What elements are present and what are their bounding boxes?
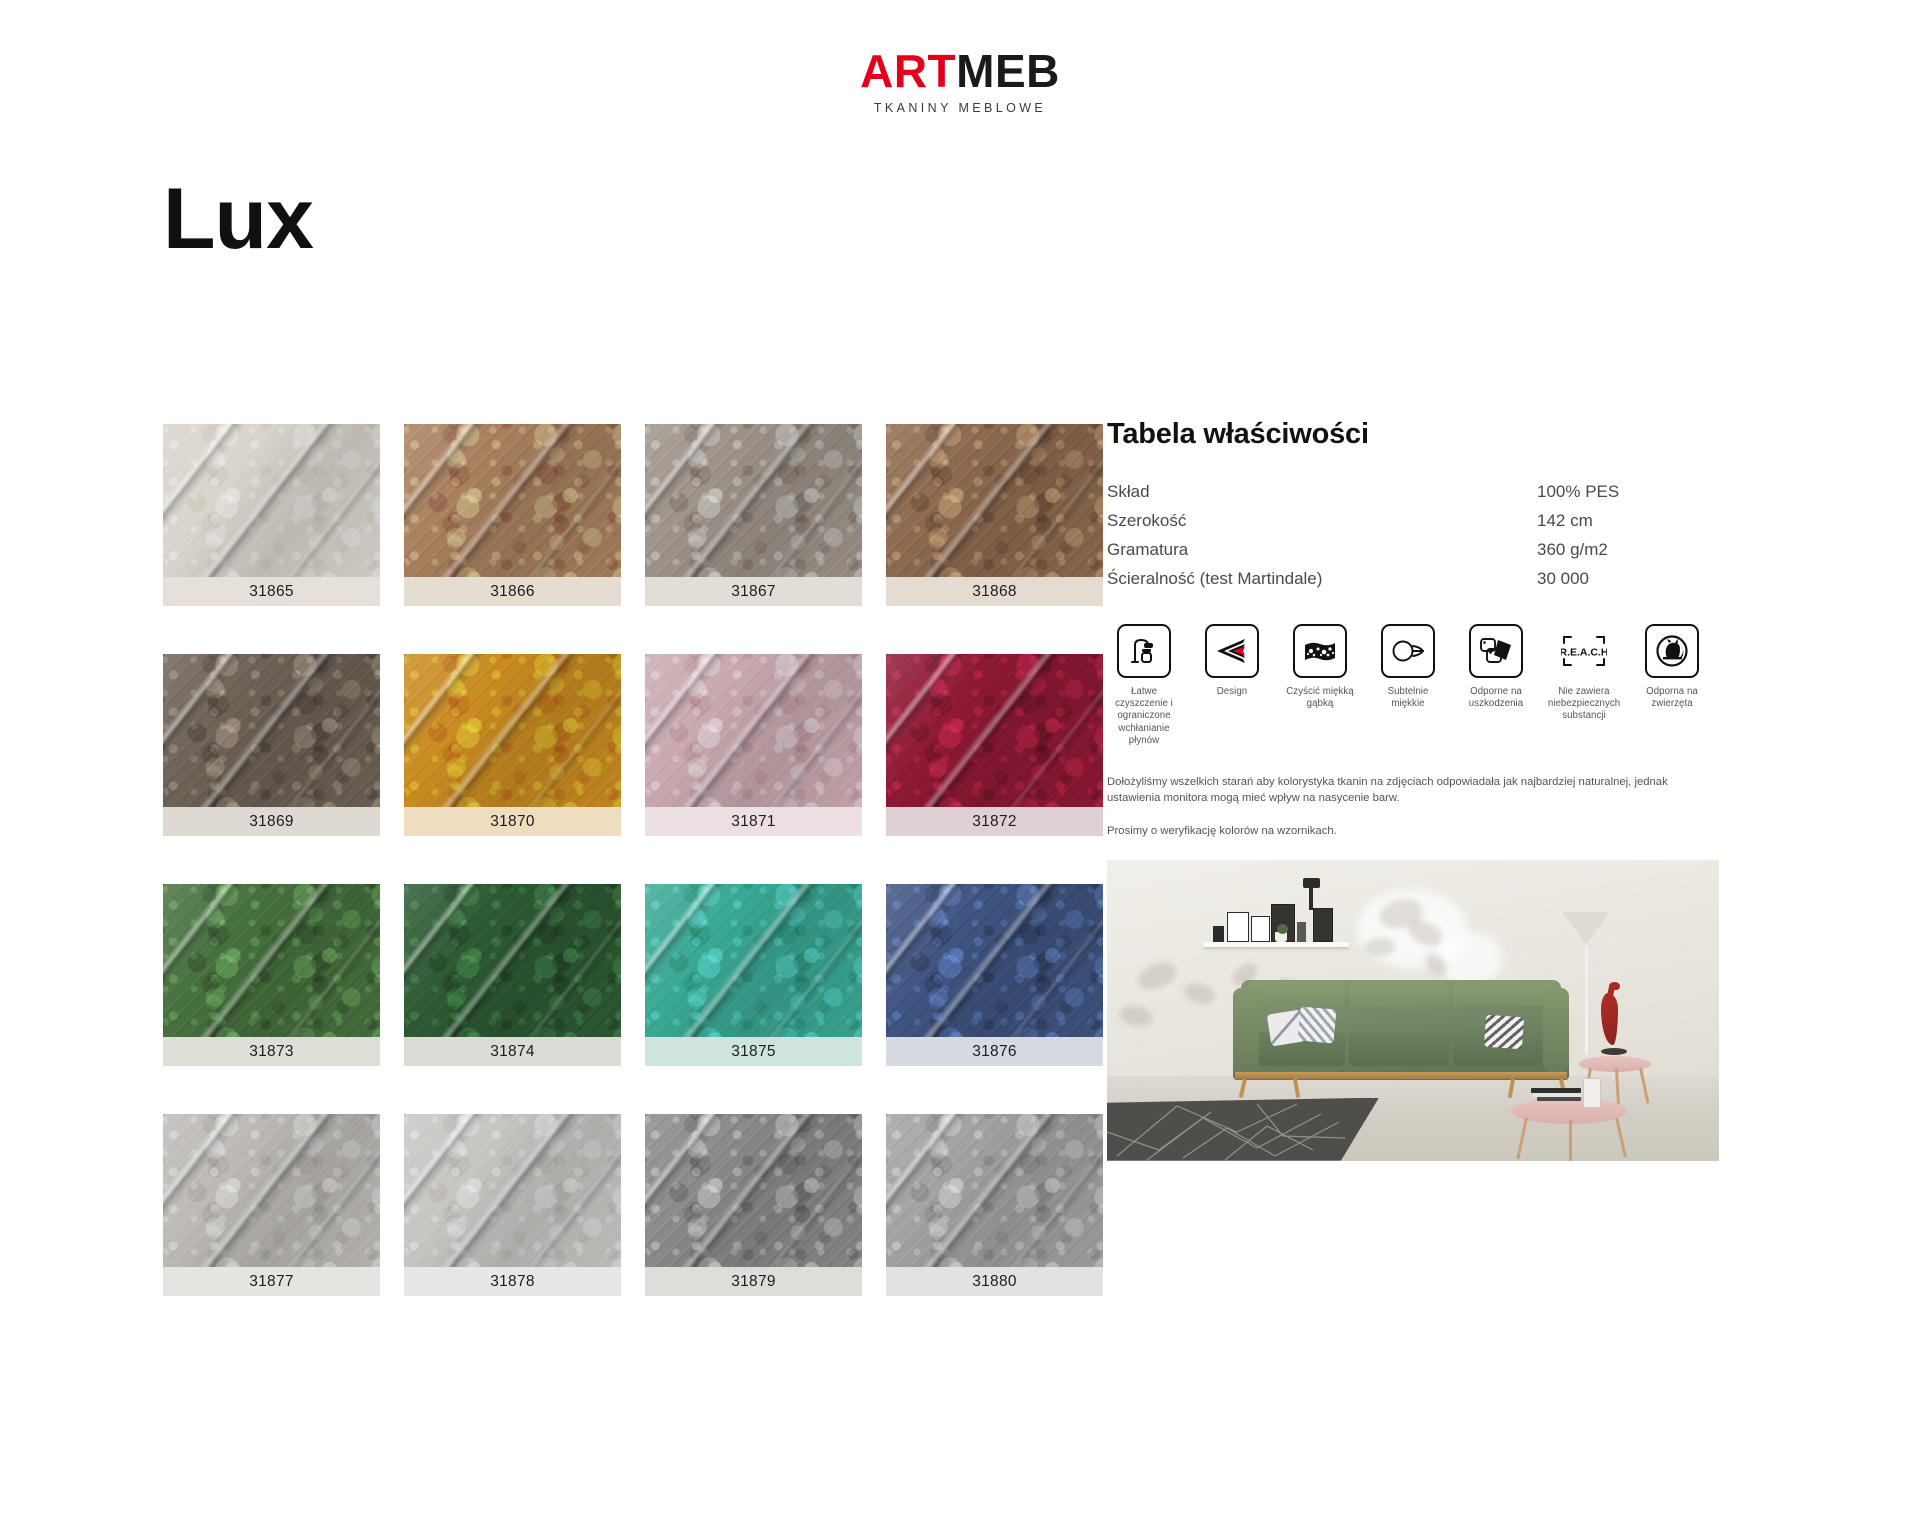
fabric-swatch-image [404, 654, 621, 807]
feature-icon-cell: Czyścić miękką gąbką [1283, 624, 1357, 748]
property-value: 360 g/m2 [1537, 535, 1727, 564]
sofa-armrest [1543, 988, 1569, 1072]
fabric-swatch-code: 31876 [886, 1037, 1103, 1066]
fabric-swatch-image [163, 654, 380, 807]
fabric-swatch[interactable]: 31878 [404, 1114, 621, 1296]
feature-icon-cell: Subtelnie miękkie [1371, 624, 1445, 748]
fabric-swatch-code: 31879 [645, 1267, 862, 1296]
collection-title: Lux [163, 176, 313, 262]
fabric-swatch[interactable]: 31866 [404, 424, 621, 606]
properties-panel: Tabela właściwości Skład100% PESSzerokoś… [1107, 418, 1727, 1161]
book-stack [1531, 1088, 1581, 1093]
fabric-swatch-code: 31865 [163, 577, 380, 606]
pet-friendly-cat-icon [1645, 624, 1699, 678]
fabric-swatch-code: 31868 [886, 577, 1103, 606]
disclaimer-paragraph-1: Dołożyliśmy wszelkich starań aby kolorys… [1107, 774, 1719, 807]
properties-table: Skład100% PESSzerokość142 cmGramatura360… [1107, 477, 1727, 594]
properties-title: Tabela właściwości [1107, 418, 1727, 451]
sunlight-patch [1437, 932, 1503, 986]
floor-lamp-pole [1585, 946, 1588, 1056]
catalog-page: ARTMEB TKANINY MEBLOWE Lux 3186531866318… [0, 0, 1920, 1538]
damage-resistant-icon [1469, 624, 1523, 678]
fabric-swatch[interactable]: 31870 [404, 654, 621, 836]
soft-touch-icon [1381, 624, 1435, 678]
fabric-swatch[interactable]: 31873 [163, 884, 380, 1066]
feature-icon-cell: Odporna na zwierzęta [1635, 624, 1709, 748]
sofa-armrest [1233, 988, 1259, 1072]
fabric-swatch-image [886, 654, 1103, 807]
shelf-picture-frame [1313, 908, 1333, 942]
fabric-swatch-code: 31871 [645, 807, 862, 836]
fabric-swatch-code: 31870 [404, 807, 621, 836]
fabric-swatch-code: 31878 [404, 1267, 621, 1296]
fabric-swatch-code: 31875 [645, 1037, 862, 1066]
flamingo-head [1609, 982, 1620, 990]
feature-icon-caption: Odporne na uszkodzenia [1459, 686, 1533, 711]
geometric-rug [1107, 1098, 1379, 1161]
feature-icon-cell: Design [1195, 624, 1269, 748]
fabric-swatch[interactable]: 31880 [886, 1114, 1103, 1296]
design-arrow-icon [1205, 624, 1259, 678]
fabric-swatch-code: 31867 [645, 577, 862, 606]
fabric-swatch-image [645, 654, 862, 807]
fabric-swatch-image [404, 1114, 621, 1267]
floor-lamp-shade [1562, 912, 1610, 944]
fabric-swatch-code: 31874 [404, 1037, 621, 1066]
fabric-swatch-image [645, 1114, 862, 1267]
feature-icon-caption: Czyścić miękką gąbką [1283, 686, 1357, 711]
feature-icon-cell: Odporne na uszkodzenia [1459, 624, 1533, 748]
shelf-picture-frame [1251, 916, 1270, 942]
fabric-swatch-code: 31877 [163, 1267, 380, 1296]
shelf-vase [1297, 922, 1306, 942]
fabric-swatch-code: 31872 [886, 807, 1103, 836]
fabric-swatch-image [163, 1114, 380, 1267]
fabric-swatch[interactable]: 31871 [645, 654, 862, 836]
property-row: Ścieralność (test Martindale)30 000 [1107, 564, 1727, 593]
sofa-seat-cushion [1349, 1032, 1449, 1066]
fabric-swatch[interactable]: 31868 [886, 424, 1103, 606]
fabric-swatch-code: 31880 [886, 1267, 1103, 1296]
logo-tagline: TKANINY MEBLOWE [0, 101, 1920, 115]
sofa-wooden-base [1235, 1072, 1567, 1079]
vacuum-cleaner-icon [1117, 624, 1171, 678]
property-row: Gramatura360 g/m2 [1107, 535, 1727, 564]
fabric-swatch-image [886, 884, 1103, 1037]
property-label: Gramatura [1107, 535, 1537, 564]
brand-logo: ARTMEB TKANINY MEBLOWE [0, 48, 1920, 115]
feature-icon-caption: Łatwe czyszczenie i ograniczone wchłania… [1107, 686, 1181, 748]
fabric-swatch[interactable]: 31865 [163, 424, 380, 606]
fabric-swatch-code: 31866 [404, 577, 621, 606]
property-row: Skład100% PES [1107, 477, 1727, 506]
fabric-swatch[interactable]: 31876 [886, 884, 1103, 1066]
property-label: Szerokość [1107, 506, 1537, 535]
reach-certificate-icon: R.E.A.C.H [1557, 624, 1611, 678]
fabric-swatch-image [404, 424, 621, 577]
property-value: 142 cm [1537, 506, 1727, 535]
fabric-swatch[interactable]: 31867 [645, 424, 862, 606]
interior-photo [1107, 860, 1719, 1161]
feature-icon-cell: Łatwe czyszczenie i ograniczone wchłania… [1107, 624, 1181, 748]
feature-icons-row: Łatwe czyszczenie i ograniczone wchłania… [1107, 624, 1727, 748]
fabric-swatch-code: 31873 [163, 1037, 380, 1066]
logo-wordmark: ARTMEB [860, 48, 1060, 94]
fabric-swatch-grid: 3186531866318673186831869318703187131872… [163, 424, 1103, 1296]
shelf-letter-block [1213, 926, 1224, 942]
fabric-swatch[interactable]: 31872 [886, 654, 1103, 836]
fabric-swatch[interactable]: 31879 [645, 1114, 862, 1296]
sofa-pillow [1298, 1006, 1337, 1043]
feature-icon-caption: Subtelnie miękkie [1371, 686, 1445, 711]
fabric-swatch-image [886, 424, 1103, 577]
shelf-plant [1277, 924, 1288, 934]
property-value: 30 000 [1537, 564, 1727, 593]
feature-icon-cell: R.E.A.C.HNie zawiera niebezpiecznych sub… [1547, 624, 1621, 748]
table-picture-frame [1583, 1078, 1601, 1108]
feature-icon-caption: Odporna na zwierzęta [1635, 686, 1709, 711]
property-label: Skład [1107, 477, 1537, 506]
shelf-sculpture [1303, 878, 1320, 888]
flamingo-base [1601, 1048, 1627, 1055]
fabric-swatch[interactable]: 31869 [163, 654, 380, 836]
feature-icon-caption: Design [1217, 686, 1247, 698]
fabric-swatch-image [163, 884, 380, 1037]
logo-art-text: ART [860, 45, 956, 97]
fabric-swatch-code: 31869 [163, 807, 380, 836]
shelf-picture-frame [1227, 912, 1249, 942]
fabric-swatch[interactable]: 31874 [404, 884, 621, 1066]
property-row: Szerokość142 cm [1107, 506, 1727, 535]
sponge-icon [1293, 624, 1347, 678]
fabric-swatch-image [886, 1114, 1103, 1267]
property-value: 100% PES [1537, 477, 1727, 506]
coffee-table-leg [1569, 1120, 1572, 1161]
fabric-swatch-image [404, 884, 621, 1037]
fabric-swatch[interactable]: 31875 [645, 884, 862, 1066]
wall-shelf [1203, 942, 1349, 947]
book-stack [1537, 1097, 1581, 1101]
fabric-swatch[interactable]: 31877 [163, 1114, 380, 1296]
feature-icon-caption: Nie zawiera niebezpiecznych substancji [1547, 686, 1621, 723]
fabric-swatch-image [163, 424, 380, 577]
sofa-pillow [1484, 1014, 1524, 1049]
fabric-swatch-image [645, 884, 862, 1037]
disclaimer-block: Dołożyliśmy wszelkich starań aby kolorys… [1107, 774, 1727, 840]
fabric-swatch-image [645, 424, 862, 577]
rug-pattern [1107, 1098, 1379, 1161]
svg-text:R.E.A.C.H: R.E.A.C.H [1561, 646, 1607, 658]
disclaimer-paragraph-2: Prosimy o weryfikację kolorów na wzornik… [1107, 823, 1719, 839]
property-label: Ścieralność (test Martindale) [1107, 564, 1537, 593]
logo-meb-text: MEB [956, 45, 1060, 97]
